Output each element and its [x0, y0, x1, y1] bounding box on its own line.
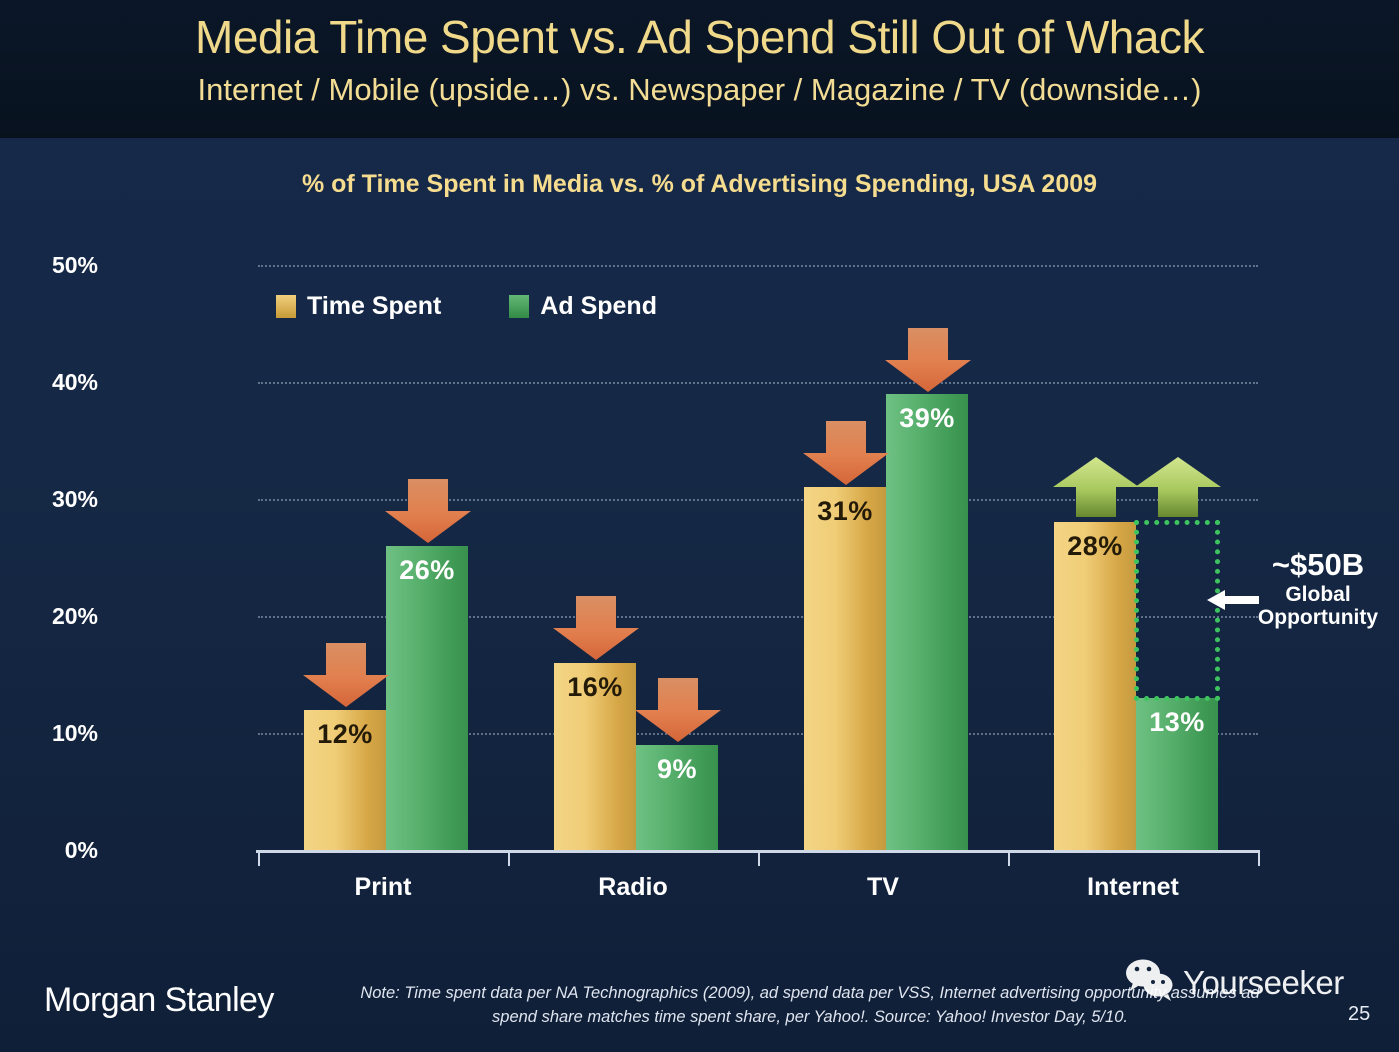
bar-value-tv-time-spent: 31% — [804, 496, 886, 527]
wechat-icon — [1124, 958, 1176, 1007]
x-axis-tick-0 — [258, 850, 260, 866]
bar-tv-ad-spend: 39% — [886, 394, 968, 850]
down-arrow-print-time-spent — [300, 641, 392, 714]
bar-internet-ad-spend: 13% — [1136, 698, 1218, 850]
legend-label-ad-spend: Ad Spend — [540, 292, 657, 321]
watermark: Yourseeker — [1124, 958, 1344, 1007]
callout-amount: ~$50B — [1238, 548, 1398, 583]
bar-tv-time-spent: 31% — [804, 487, 886, 850]
up-arrow-internet-ad-spend — [1132, 455, 1224, 524]
bar-radio-ad-spend: 9% — [636, 745, 718, 850]
chart-title: % of Time Spent in Media vs. % of Advert… — [0, 170, 1399, 199]
bar-value-internet-ad-spend: 13% — [1136, 707, 1218, 738]
gridline-50 — [258, 265, 1258, 267]
down-arrow-radio-ad-spend — [632, 676, 724, 749]
legend-item-ad-spend: Ad Spend — [509, 292, 657, 321]
morgan-stanley-logo: Morgan Stanley — [44, 981, 274, 1020]
down-arrow-tv-time-spent — [800, 419, 892, 492]
x-axis-label-radio: Radio — [508, 873, 758, 902]
chart-legend: Time Spent Ad Spend — [276, 292, 657, 321]
legend-swatch-ad-spend — [509, 295, 529, 318]
x-axis-tick-1 — [508, 850, 510, 866]
bar-print-ad-spend: 26% — [386, 546, 468, 850]
bar-internet-time-spent: 28% — [1054, 522, 1136, 850]
gridline-40 — [258, 382, 1258, 384]
page-number: 25 — [1348, 1003, 1370, 1026]
slide-header: Media Time Spent vs. Ad Spend Still Out … — [0, 0, 1399, 138]
y-tick-label-30: 30% — [0, 486, 98, 513]
bar-value-print-time-spent: 12% — [304, 719, 386, 750]
bar-value-print-ad-spend: 26% — [386, 555, 468, 586]
global-opportunity-callout: ~$50B Global Opportunity — [1238, 548, 1398, 630]
watermark-text: Yourseeker — [1183, 964, 1344, 1002]
bar-value-radio-ad-spend: 9% — [636, 754, 718, 785]
y-tick-label-10: 10% — [0, 720, 98, 747]
down-arrow-radio-time-spent — [550, 594, 642, 667]
legend-item-time-spent: Time Spent — [276, 292, 441, 321]
callout-line-2: Global — [1238, 583, 1398, 607]
bar-print-time-spent: 12% — [304, 710, 386, 850]
bar-value-internet-time-spent: 28% — [1054, 531, 1136, 562]
down-arrow-tv-ad-spend — [882, 326, 974, 399]
bar-value-radio-time-spent: 16% — [554, 672, 636, 703]
bar-value-tv-ad-spend: 39% — [886, 403, 968, 434]
x-axis-tick-2 — [758, 850, 760, 866]
y-tick-label-20: 20% — [0, 603, 98, 630]
x-axis-label-internet: Internet — [1008, 873, 1258, 902]
x-axis-line — [256, 850, 1258, 853]
bar-radio-time-spent: 16% — [554, 663, 636, 850]
plot-area: 50% 40% 30% 20% 10% 0% 12% 26% 16% 9% 31… — [258, 265, 1258, 850]
y-tick-label-0: 0% — [0, 837, 98, 864]
up-arrow-internet-time-spent — [1050, 455, 1142, 524]
down-arrow-print-ad-spend — [382, 477, 474, 550]
y-tick-label-50: 50% — [0, 252, 98, 279]
legend-label-time-spent: Time Spent — [307, 292, 441, 321]
page-title: Media Time Spent vs. Ad Spend Still Out … — [0, 10, 1399, 64]
x-axis-label-tv: TV — [758, 873, 1008, 902]
x-axis-tick-3 — [1008, 850, 1010, 866]
slide: Media Time Spent vs. Ad Spend Still Out … — [0, 0, 1399, 1052]
x-axis-tick-4 — [1258, 850, 1260, 866]
page-subtitle: Internet / Mobile (upside…) vs. Newspape… — [0, 72, 1399, 108]
y-tick-label-40: 40% — [0, 369, 98, 396]
callout-line-3: Opportunity — [1238, 606, 1398, 630]
source-note-line2: spend share matches time spent share, pe… — [310, 1006, 1310, 1030]
x-axis-label-print: Print — [258, 873, 508, 902]
legend-swatch-time-spent — [276, 295, 296, 318]
